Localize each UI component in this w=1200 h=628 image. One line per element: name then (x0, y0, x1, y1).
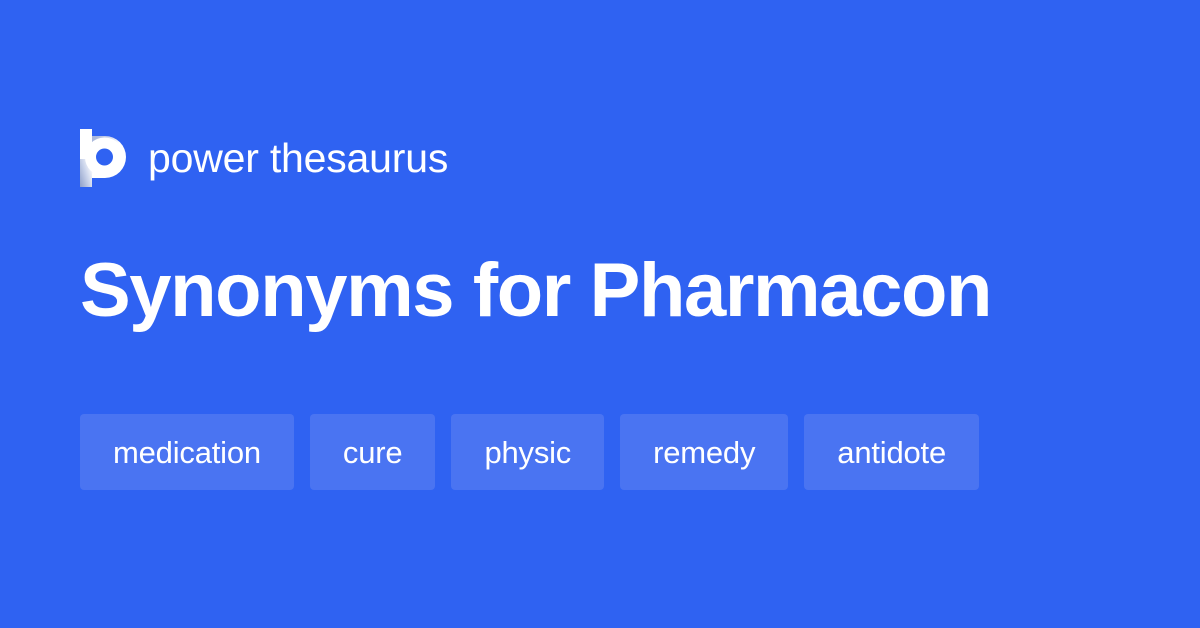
synonym-chip-label: remedy (653, 437, 755, 468)
power-thesaurus-b-logo-icon (80, 129, 126, 187)
synonym-chip-list: medication cure physic remedy antidote (80, 414, 979, 490)
synonym-chip[interactable]: antidote (804, 414, 979, 490)
synonym-chip-label: antidote (837, 437, 946, 468)
share-card: power thesaurus Synonyms for Pharmacon m… (0, 0, 1200, 628)
synonym-chip[interactable]: cure (310, 414, 436, 490)
brand-logo-row[interactable]: power thesaurus (80, 126, 448, 190)
synonym-chip-label: cure (343, 437, 403, 468)
synonym-chip[interactable]: physic (451, 414, 604, 490)
synonym-chip-label: medication (113, 437, 261, 468)
synonym-chip[interactable]: medication (80, 414, 294, 490)
page-title: Synonyms for Pharmacon (80, 248, 991, 333)
synonym-chip-label: physic (484, 437, 571, 468)
synonym-chip[interactable]: remedy (620, 414, 788, 490)
brand-name: power thesaurus (148, 138, 448, 179)
